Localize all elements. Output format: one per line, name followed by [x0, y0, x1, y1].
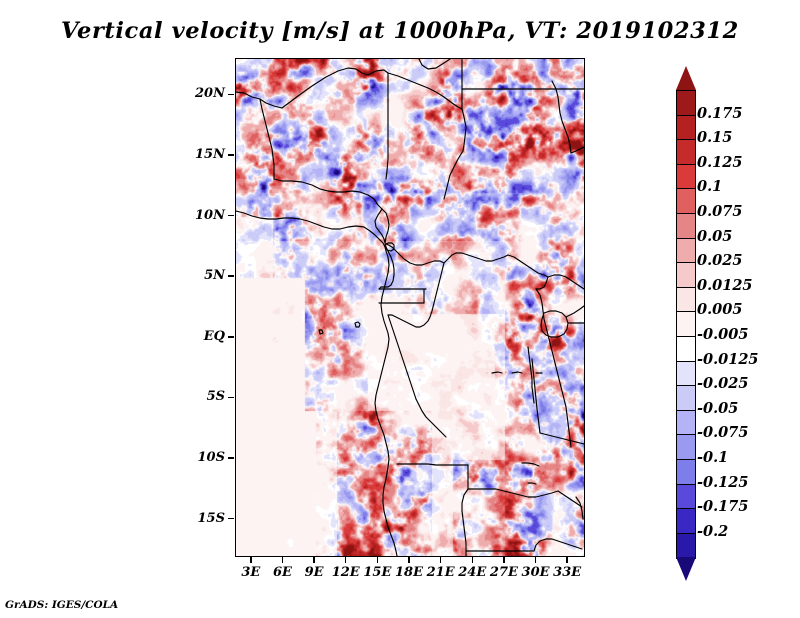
- colorbar-over-arrow: [676, 66, 696, 90]
- colorbar: [676, 66, 696, 556]
- colorbar-label-0p075: 0.075: [697, 205, 742, 220]
- latitude-tick: [228, 518, 234, 520]
- latitude-tick: [228, 275, 234, 277]
- colorbar-band: [676, 262, 696, 288]
- colorbar-band: [676, 90, 696, 116]
- colorbar-band: [676, 484, 696, 510]
- latitude-tick: [228, 397, 234, 399]
- colorbar-band: [676, 238, 696, 264]
- longitude-tick: [472, 557, 474, 563]
- longitude-tick: [535, 557, 537, 563]
- colorbar-label-neg0p005: -0.005: [697, 328, 748, 343]
- latitude-label-10S: 10S: [198, 450, 225, 465]
- latitude-label-20N: 20N: [195, 86, 225, 101]
- colorbar-band: [676, 459, 696, 485]
- colorbar-label-0p15: 0.15: [697, 131, 732, 146]
- colorbar-band: [676, 385, 696, 411]
- longitude-tick: [440, 557, 442, 563]
- colorbar-label-neg0p175: -0.175: [697, 500, 748, 515]
- latitude-tick: [228, 215, 234, 217]
- colorbar-label-neg0p1: -0.1: [697, 451, 728, 466]
- colorbar-label-0p0125: 0.0125: [697, 279, 753, 294]
- longitude-tick: [377, 557, 379, 563]
- longitude-tick: [566, 557, 568, 563]
- latitude-label-5S: 5S: [207, 389, 225, 404]
- colorbar-label-0p025: 0.025: [697, 254, 742, 269]
- colorbar-band: [676, 139, 696, 165]
- colorbar-band: [676, 311, 696, 337]
- map-coastlines-and-borders: [236, 59, 584, 556]
- colorbar-band: [676, 336, 696, 362]
- colorbar-label-0p1: 0.1: [697, 180, 722, 195]
- latitude-tick: [228, 154, 234, 156]
- colorbar-band: [676, 287, 696, 313]
- colorbar-label-neg0p2: -0.2: [697, 525, 728, 540]
- colorbar-label-0p05: 0.05: [697, 230, 732, 245]
- colorbar-band: [676, 434, 696, 460]
- latitude-label-EQ: EQ: [204, 329, 225, 344]
- colorbar-label-neg0p125: -0.125: [697, 476, 748, 491]
- page-title: Vertical velocity [m/s] at 1000hPa, VT: …: [0, 18, 800, 44]
- longitude-tick: [282, 557, 284, 563]
- colorbar-label-0p125: 0.125: [697, 156, 742, 171]
- latitude-tick: [228, 336, 234, 338]
- longitude-tick: [503, 557, 505, 563]
- latitude-label-10N: 10N: [195, 208, 225, 223]
- longitude-tick: [250, 557, 252, 563]
- map-plot-area: [235, 58, 585, 557]
- colorbar-band: [676, 213, 696, 239]
- colorbar-under-arrow: [676, 557, 696, 581]
- longitude-tick: [408, 557, 410, 563]
- colorbar-band: [676, 361, 696, 387]
- colorbar-label-0p005: 0.005: [697, 303, 742, 318]
- colorbar-label-neg0p05: -0.05: [697, 402, 738, 417]
- colorbar-band: [676, 164, 696, 190]
- latitude-tick: [228, 457, 234, 459]
- colorbar-band: [676, 410, 696, 436]
- latitude-tick: [228, 94, 234, 96]
- colorbar-label-neg0p0125: -0.0125: [697, 353, 759, 368]
- colorbar-label-neg0p075: -0.075: [697, 426, 748, 441]
- latitude-label-15N: 15N: [195, 147, 225, 162]
- colorbar-band: [676, 508, 696, 534]
- longitude-tick: [345, 557, 347, 563]
- latitude-label-15S: 15S: [198, 511, 225, 526]
- longitude-tick: [313, 557, 315, 563]
- colorbar-band: [676, 533, 696, 559]
- colorbar-label-0p175: 0.175: [697, 107, 742, 122]
- longitude-label-33E: 33E: [545, 565, 589, 580]
- colorbar-label-neg0p025: -0.025: [697, 377, 748, 392]
- colorbar-band: [676, 188, 696, 214]
- colorbar-band: [676, 115, 696, 141]
- latitude-label-5N: 5N: [204, 268, 225, 283]
- grads-credit: GrADS: IGES/COLA: [5, 599, 118, 611]
